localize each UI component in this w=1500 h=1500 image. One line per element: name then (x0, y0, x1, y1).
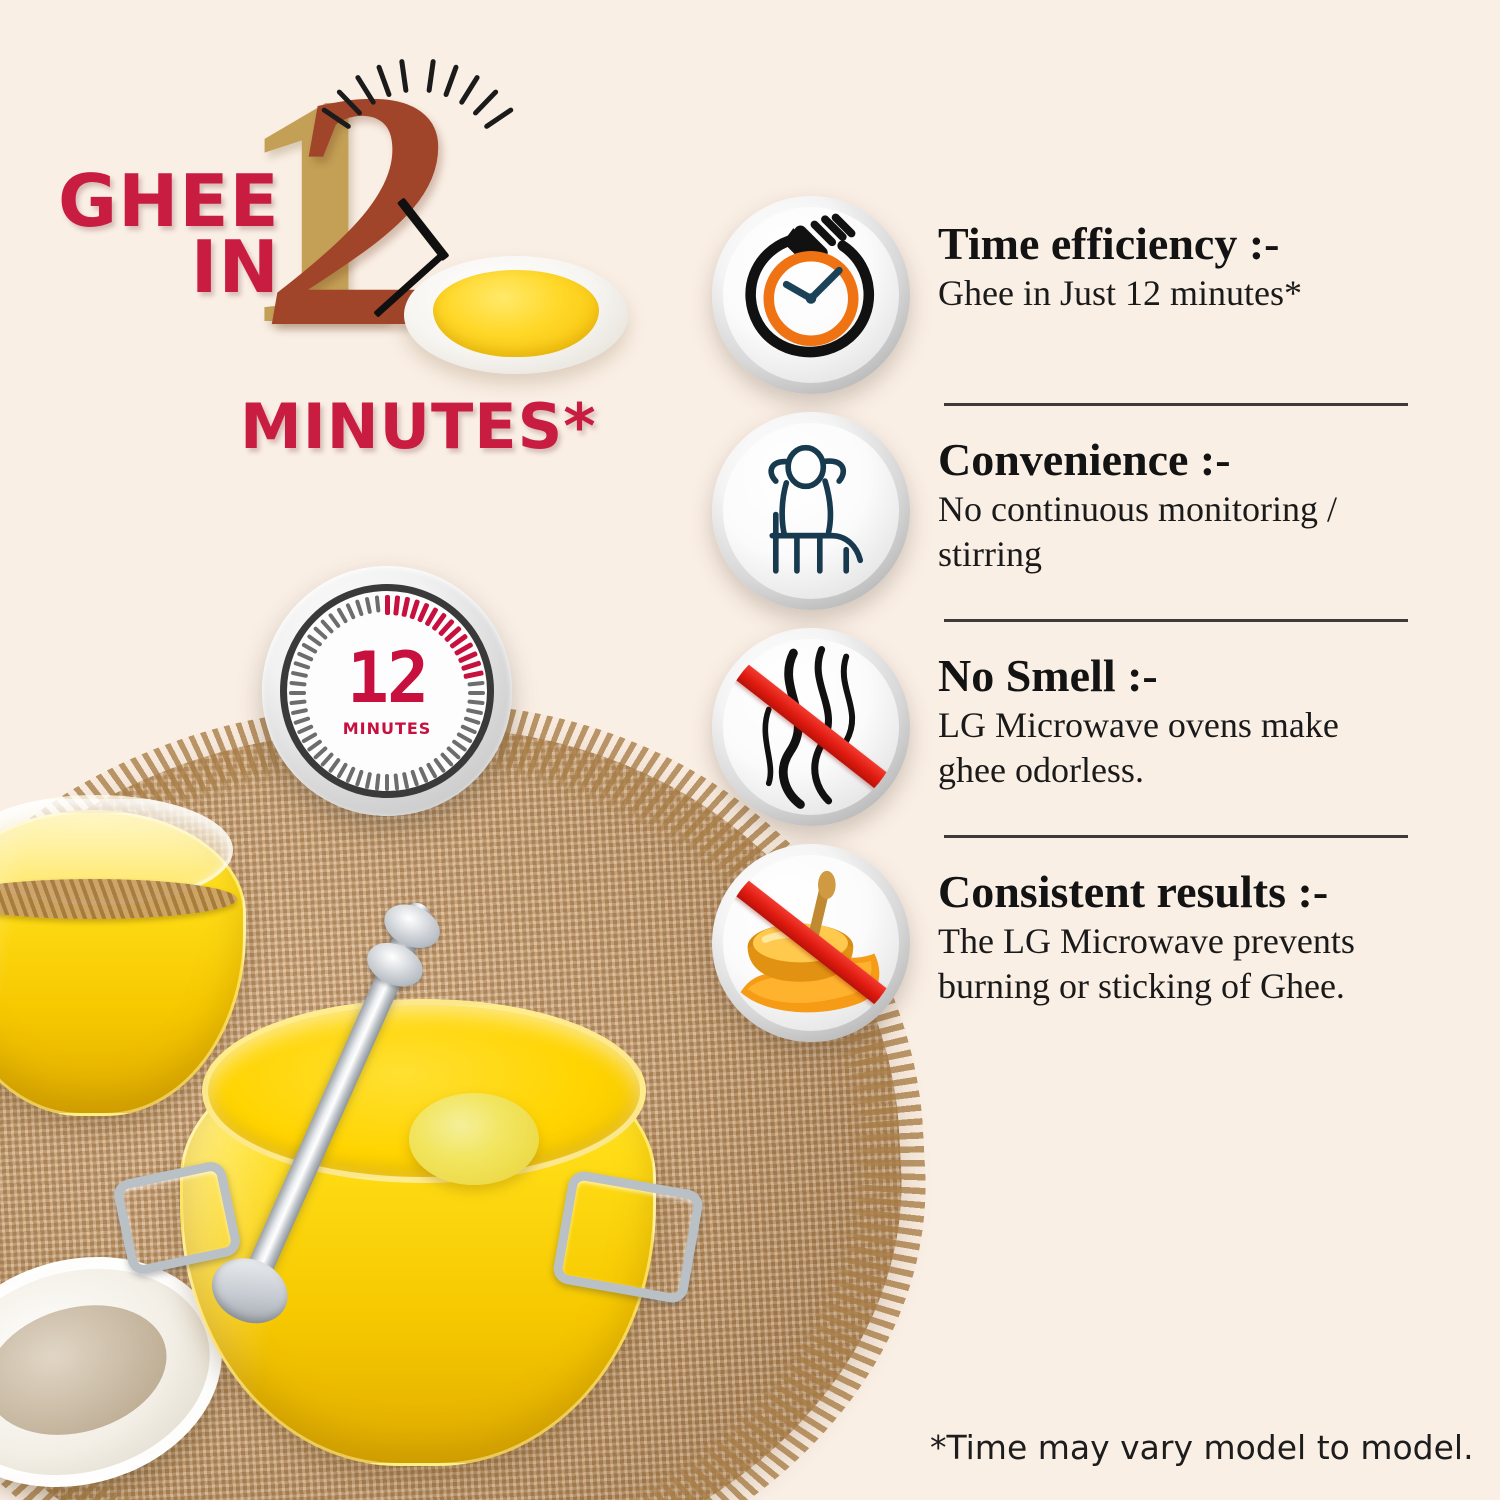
dial-tick (345, 766, 356, 783)
dial-tick (375, 595, 381, 612)
feature-title: No Smell :- (938, 652, 1412, 701)
dial-tick (375, 773, 381, 790)
dial-tick (385, 774, 389, 791)
dial-tick (345, 603, 356, 620)
feature-title: Time efficiency :- (938, 220, 1412, 269)
dial-tick (385, 595, 390, 615)
feature-row: No Smell :- LG Microwave ovens make ghee… (712, 628, 1412, 844)
footnote-disclaimer: *Time may vary model to model. (930, 1428, 1474, 1467)
feature-description: Ghee in Just 12 minutes* (938, 271, 1408, 316)
dial-tick (355, 599, 364, 616)
dial-tick (289, 691, 306, 695)
clock-fork-icon (712, 196, 910, 394)
feature-description: LG Microwave ovens make ghee odorless. (938, 703, 1408, 793)
feature-row: Consistent results :- The LG Microwave p… (712, 844, 1412, 1060)
ghee-bowl-icon (404, 256, 628, 374)
no-smoke-icon (712, 628, 910, 826)
headline-logo: 1 2 GHEE IN MINUTES* (0, 0, 680, 470)
feature-title: Convenience :- (938, 436, 1412, 485)
feature-row: Convenience :- No continuous monitoring … (712, 412, 1412, 628)
feature-divider (944, 619, 1408, 622)
jar-twine (0, 879, 237, 919)
sunburst-icon (300, 58, 530, 288)
logo-line-2: IN (58, 234, 280, 300)
feature-description: No continuous monitoring / stirring (938, 487, 1408, 577)
dial-tick (410, 769, 419, 786)
dial-tick (468, 691, 485, 695)
dial-tick (365, 772, 372, 789)
feature-row: Time efficiency :- Ghee in Just 12 minut… (712, 196, 1412, 412)
feature-description: The LG Microwave prevents burning or sti… (938, 919, 1408, 1009)
dial-tick (402, 772, 409, 789)
ghee-scoop (409, 1093, 539, 1185)
dial-tick (393, 595, 400, 615)
dial-tick (418, 766, 429, 783)
feature-divider (944, 403, 1408, 406)
dial-tick (355, 769, 364, 786)
logo-minutes-word: MINUTES* (240, 390, 597, 463)
dial-tick (393, 773, 399, 790)
clock-hour-hand-icon (397, 197, 450, 261)
infographic-poster: 1 2 GHEE IN MINUTES* 12 MINUTES (0, 0, 1500, 1500)
relaxed-person-glyph (723, 423, 899, 599)
dial-face: 12 MINUTES (280, 584, 494, 798)
feature-divider (944, 835, 1408, 838)
dial-tick (401, 597, 410, 618)
logo-wordmark: GHEE IN (58, 168, 280, 300)
clock-fork-glyph (723, 207, 899, 383)
jar-clasp-right (551, 1169, 705, 1305)
feature-title: Consistent results :- (938, 868, 1412, 917)
feature-list: Time efficiency :- Ghee in Just 12 minut… (712, 196, 1412, 1060)
countdown-dial-icon: 12 MINUTES (262, 566, 512, 816)
no-burnt-ghee-icon (712, 844, 910, 1042)
dial-tick (365, 597, 372, 614)
relaxed-person-icon (712, 412, 910, 610)
